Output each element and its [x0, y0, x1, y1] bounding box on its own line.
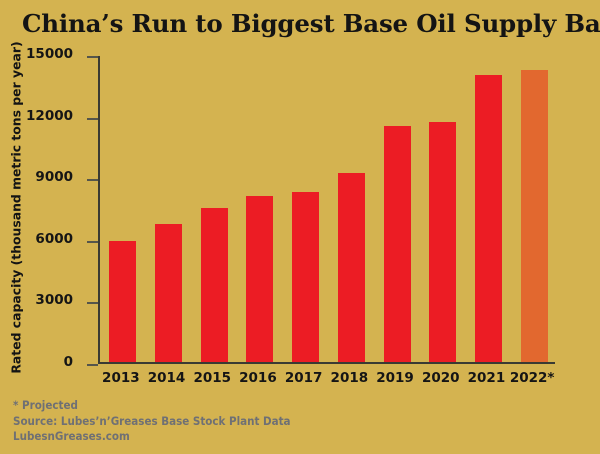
- footnote-projected: * Projected: [13, 398, 291, 414]
- y-axis-tick: 12000: [87, 118, 98, 120]
- bar-2017: [292, 192, 319, 362]
- x-axis-label-2016: 2016: [235, 370, 281, 386]
- y-axis-tick: 9000: [87, 179, 98, 181]
- y-axis-tick-label: 0: [64, 354, 73, 370]
- footnote-source: Source: Lubes’n’Greases Base Stock Plant…: [13, 414, 291, 430]
- bar-2021: [475, 75, 502, 362]
- y-axis-tick-label: 6000: [35, 231, 73, 247]
- bars-layer: [98, 50, 555, 364]
- x-axis-label-2020: 2020: [418, 370, 464, 386]
- y-axis-tick-label: 15000: [26, 46, 73, 62]
- y-axis-tick-label: 3000: [35, 292, 73, 308]
- bar-2016: [246, 196, 273, 362]
- x-axis-label-2014: 2014: [144, 370, 190, 386]
- bar-2019: [384, 126, 411, 362]
- chart-title: China’s Run to Biggest Base Oil Supply B…: [22, 9, 582, 38]
- x-axis-label-2015: 2015: [189, 370, 235, 386]
- chart-footer: * Projected Source: Lubes’n’Greases Base…: [13, 398, 291, 445]
- y-axis-tick-label: 9000: [35, 169, 73, 185]
- bar-2020: [429, 122, 456, 362]
- x-axis-label-2022-projected: 2022*: [509, 370, 555, 386]
- x-axis-label-2017: 2017: [281, 370, 327, 386]
- y-axis-title: Rated capacity (thousand metric tons per…: [6, 50, 26, 364]
- x-axis-label-2019: 2019: [372, 370, 418, 386]
- footnote-website: LubesnGreases.com: [13, 429, 291, 445]
- bar-2013: [109, 241, 136, 362]
- y-axis-tick: 0: [87, 364, 98, 366]
- x-axis-label-2018: 2018: [327, 370, 373, 386]
- y-axis-tick: 3000: [87, 302, 98, 304]
- y-axis-title-label: Rated capacity (thousand metric tons per…: [9, 41, 24, 373]
- y-axis-tick-label: 12000: [26, 108, 73, 124]
- bar-2014: [155, 224, 182, 362]
- x-axis-label-2013: 2013: [98, 370, 144, 386]
- bar-2022-projected: [521, 70, 548, 362]
- y-axis-tick: 15000: [87, 56, 98, 58]
- plot-area: 03000600090001200015000 2013201420152016…: [98, 50, 555, 364]
- bar-2015: [201, 208, 228, 362]
- y-axis-tick: 6000: [87, 241, 98, 243]
- x-axis-label-2021: 2021: [464, 370, 510, 386]
- chart-container: China’s Run to Biggest Base Oil Supply B…: [0, 0, 600, 454]
- bar-2018: [338, 173, 365, 362]
